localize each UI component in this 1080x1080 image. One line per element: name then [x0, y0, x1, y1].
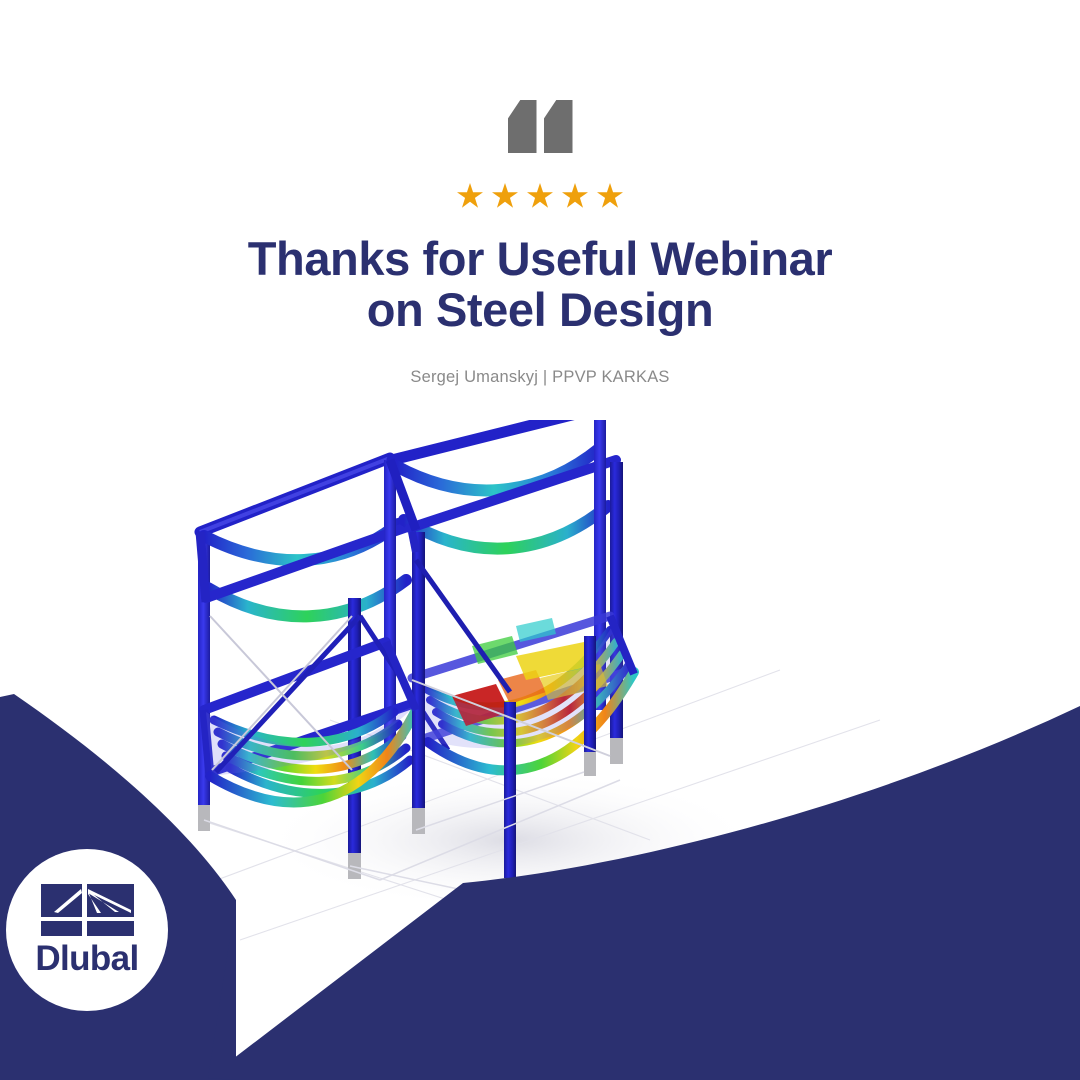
- star-icon: [597, 183, 623, 209]
- star-icon: [562, 183, 588, 209]
- quote-glyph-left: [508, 100, 537, 153]
- frame-edge: [200, 532, 206, 602]
- headline-line-1: Thanks for Useful Webinar: [90, 234, 990, 285]
- dlubal-logo-badge: Dlubal: [6, 849, 168, 1011]
- star-icon: [527, 183, 553, 209]
- dlubal-bridge-icon: [41, 884, 134, 936]
- star-icon: [457, 183, 483, 209]
- roof-rail-front-left: [206, 526, 410, 598]
- steel-frame-fea-illustration: [180, 420, 900, 960]
- testimonial-attribution: Sergej Umanskyj | PPVP KARKAS: [0, 368, 1080, 387]
- headline-line-2: on Steel Design: [90, 285, 990, 336]
- testimonial-card: Thanks for Useful Webinar on Steel Desig…: [0, 0, 1080, 1080]
- deflected-purlin: [404, 506, 608, 549]
- transverse-beam: [412, 532, 416, 552]
- quote-glyph-right: [544, 100, 573, 153]
- roof-beam-back-right: [392, 420, 600, 460]
- star-rating: [0, 176, 1080, 216]
- column: [504, 702, 516, 902]
- quote-open-icon: [0, 100, 1080, 160]
- star-icon: [492, 183, 518, 209]
- dlubal-wordmark: Dlubal: [35, 941, 138, 976]
- testimonial-headline: Thanks for Useful Webinar on Steel Desig…: [90, 234, 990, 336]
- column: [584, 636, 596, 776]
